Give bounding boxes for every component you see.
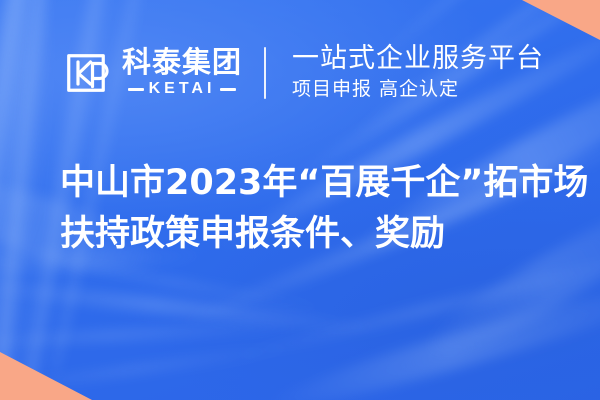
- headline-line-2: 扶持政策申报条件、奖励: [60, 209, 560, 260]
- headline-block: 中山市2023年“百展千企”拓市场 扶持政策申报条件、奖励: [60, 158, 560, 260]
- banner-header: 科泰集团 KETAI 一站式企业服务平台 项目申报 高企认定: [58, 44, 544, 101]
- header-divider: [264, 47, 266, 99]
- wordmark-dash-right: [220, 88, 236, 91]
- tagline-main: 一站式企业服务平台: [292, 44, 544, 74]
- company-name-en-row: KETAI: [122, 81, 242, 97]
- tagline-block: 一站式企业服务平台 项目申报 高企认定: [292, 44, 544, 101]
- headline-line-1: 中山市2023年“百展千企”拓市场: [60, 158, 560, 209]
- tagline-sub: 项目申报 高企认定: [292, 78, 544, 101]
- ketai-logo: 科泰集团 KETAI: [58, 45, 242, 101]
- promo-banner: 科泰集团 KETAI 一站式企业服务平台 项目申报 高企认定 中山市2023年“…: [0, 0, 600, 400]
- company-name-cn: 科泰集团: [122, 48, 242, 78]
- ketai-wordmark: 科泰集团 KETAI: [122, 48, 242, 97]
- company-name-en: KETAI: [149, 81, 216, 97]
- ketai-diamond-kt-monogram-icon: [58, 45, 114, 101]
- wordmark-dash-left: [128, 88, 144, 91]
